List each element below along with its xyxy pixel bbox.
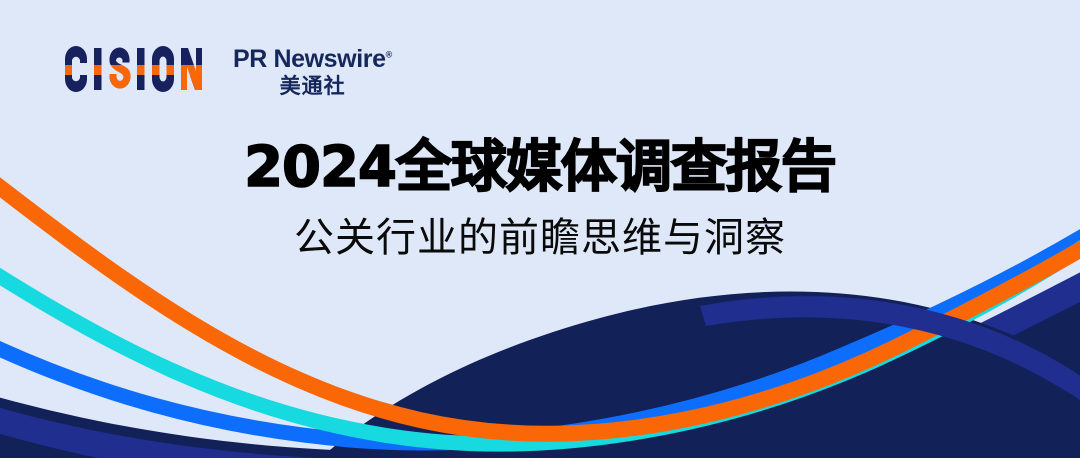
promo-banner: PR Newswire® 美通社 2024全球媒体调查报告 公关行业的前瞻思维与… xyxy=(0,0,1080,458)
headline-block: 2024全球媒体调查报告 公关行业的前瞻思维与洞察 xyxy=(0,138,1080,260)
pr-newswire-chinese-name: 美通社 xyxy=(280,74,346,98)
pr-newswire-logo: PR Newswire® 美通社 xyxy=(233,47,392,98)
page-subtitle: 公关行业的前瞻思维与洞察 xyxy=(0,216,1080,260)
pr-newswire-registered-icon: ® xyxy=(386,50,393,60)
pr-newswire-wordmark: PR Newswire® xyxy=(233,47,392,72)
pr-newswire-text: PR Newswire xyxy=(233,45,386,73)
cision-logo xyxy=(62,46,202,92)
page-title: 2024全球媒体调查报告 xyxy=(0,138,1080,198)
logo-lockup: PR Newswire® 美通社 xyxy=(62,46,392,98)
logo-divider xyxy=(218,48,219,90)
